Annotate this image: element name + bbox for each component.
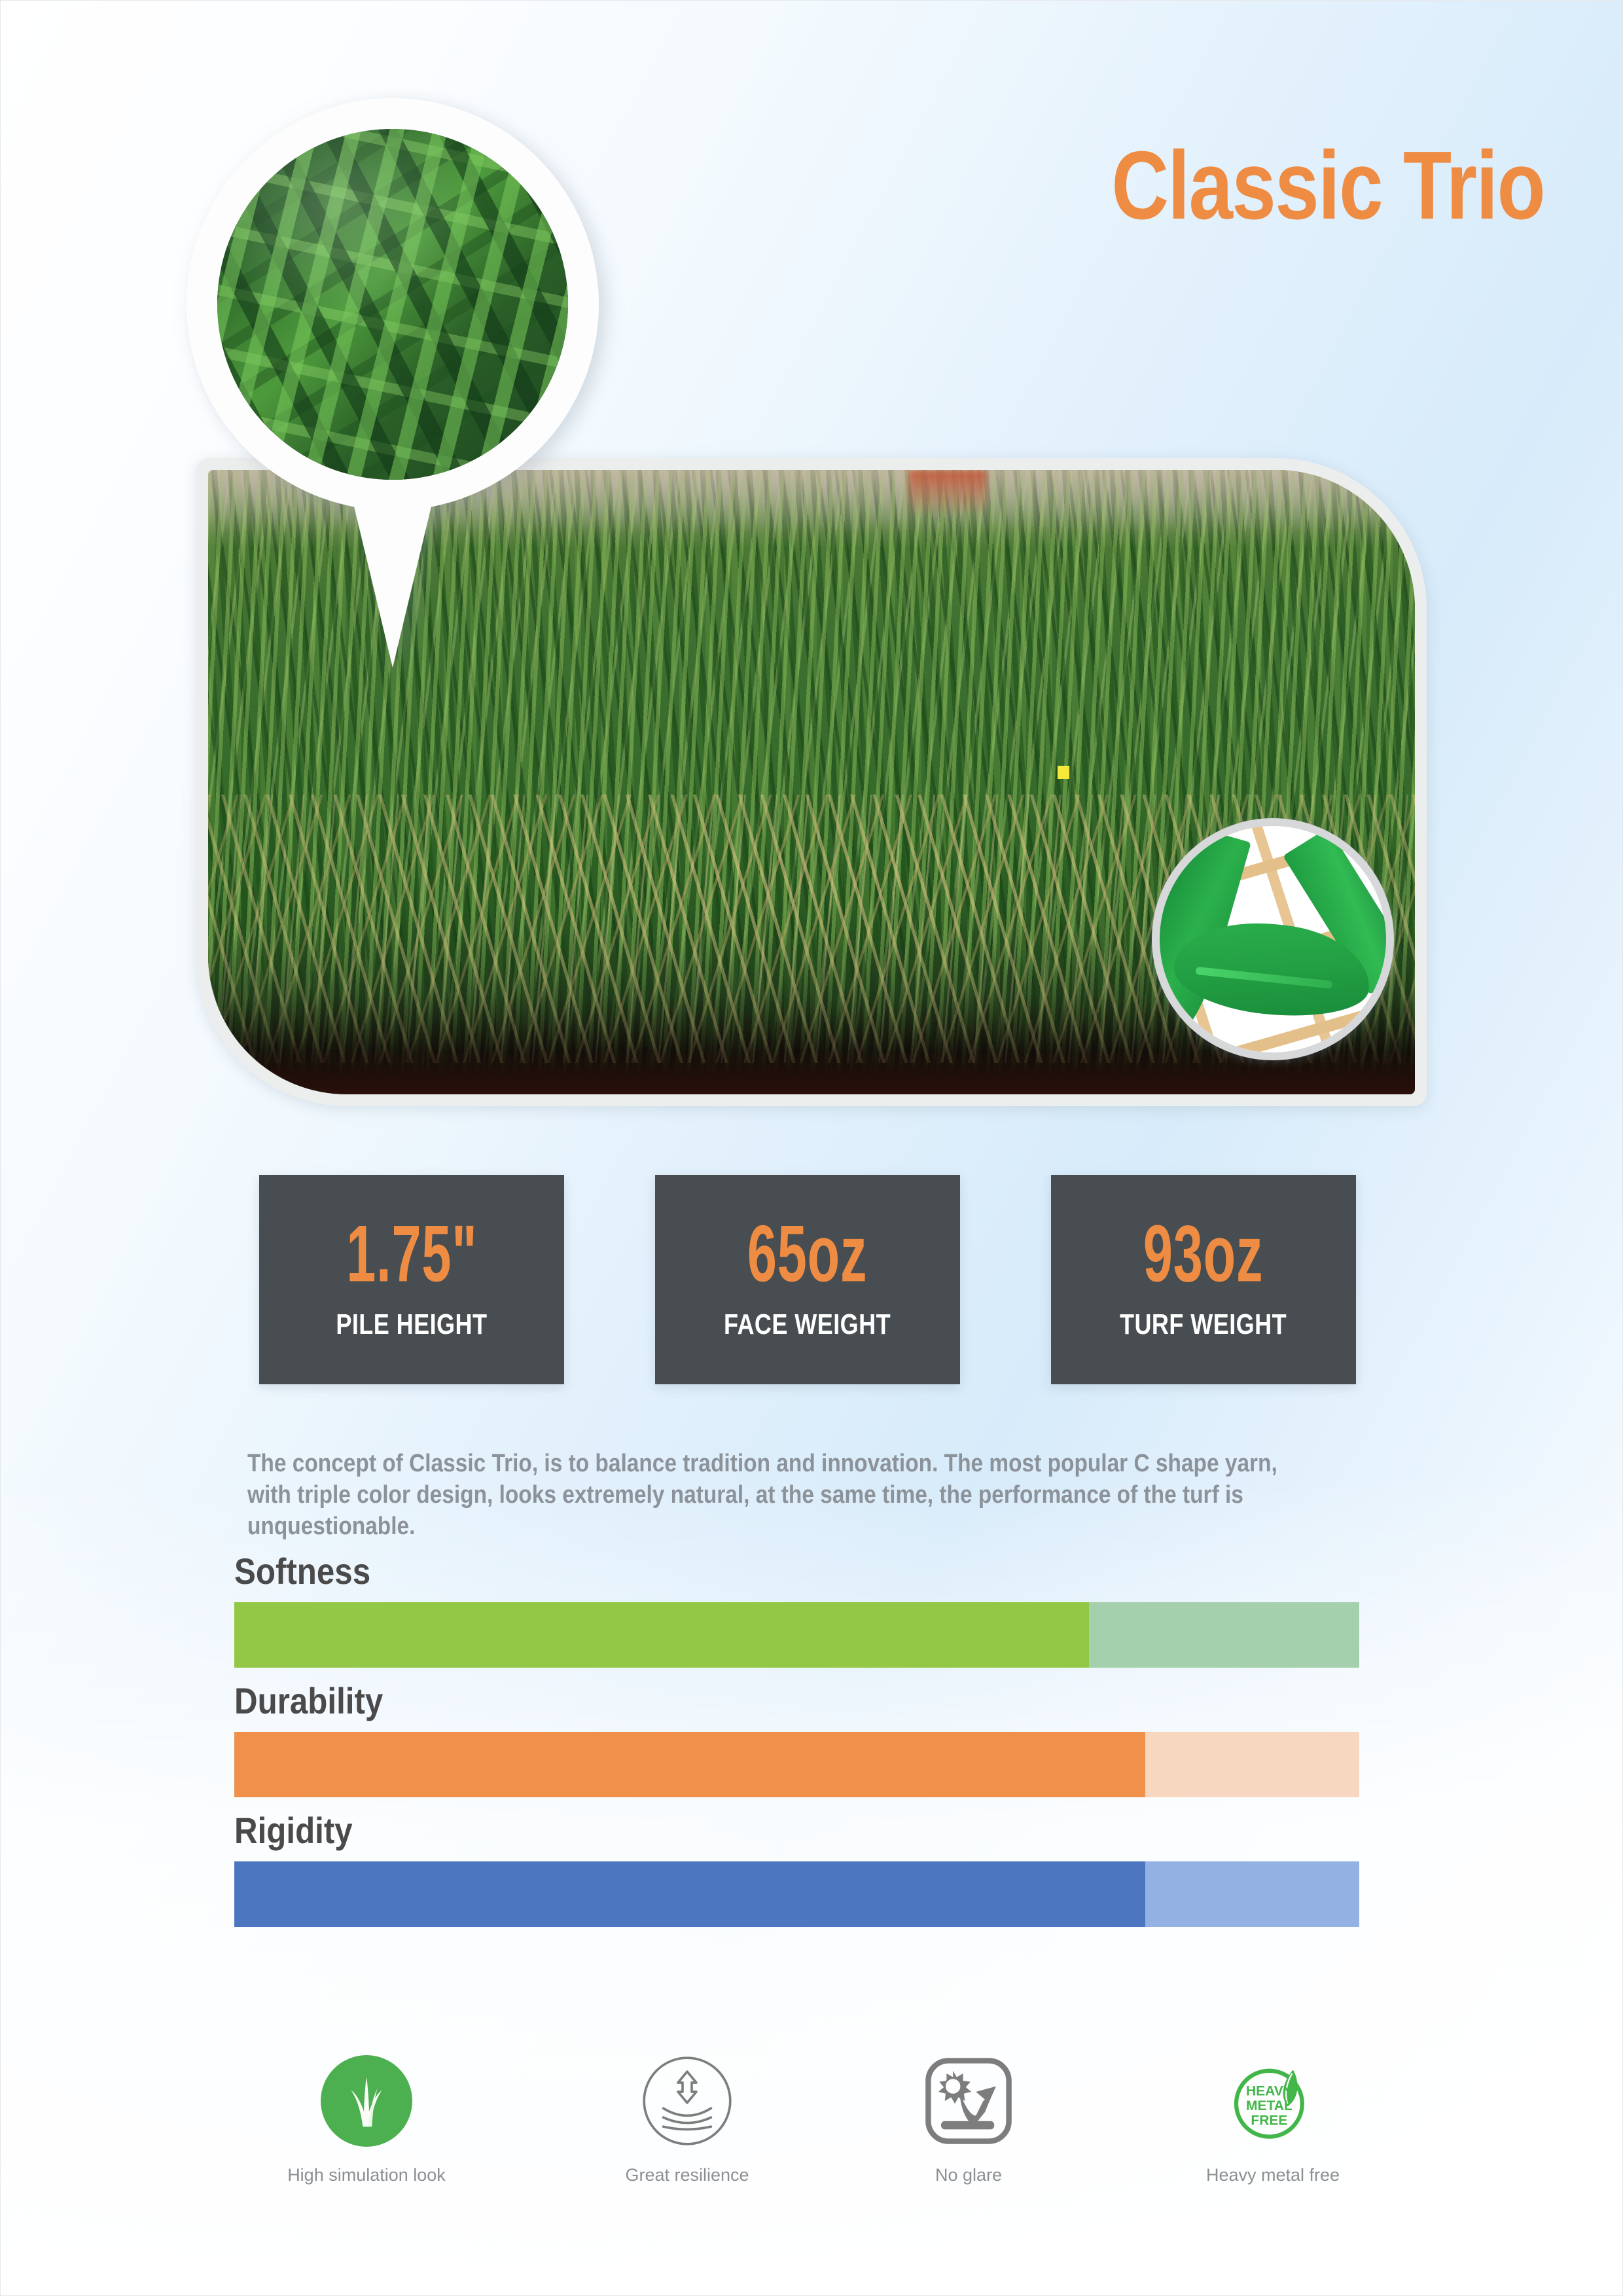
badge-line-3: FREE xyxy=(1251,2113,1287,2128)
rating-track-remainder xyxy=(1089,1602,1359,1668)
product-description: The concept of Classic Trio, is to balan… xyxy=(247,1448,1278,1542)
rating-track xyxy=(234,1732,1359,1797)
rating-fill xyxy=(234,1861,1145,1927)
rating-label: Durability xyxy=(234,1681,1224,1721)
spec-label: PILE HEIGHT xyxy=(336,1310,487,1339)
feature-icon-group: High simulation look Great resilience xyxy=(0,2055,1623,2238)
photo-background-blur xyxy=(908,470,987,516)
spec-value: 93oz xyxy=(1143,1214,1263,1295)
page-title: Classic Trio xyxy=(944,137,1544,234)
yarn-detail-badge xyxy=(1152,818,1394,1060)
rating-row-durability: Durability xyxy=(234,1681,1359,1797)
resilience-arrow-icon xyxy=(641,2055,733,2147)
badge-line-1: HEAVY xyxy=(1246,2084,1293,2099)
rating-fill xyxy=(234,1732,1145,1797)
spec-value: 65oz xyxy=(747,1214,867,1295)
spec-box-face-weight: 65oz FACE WEIGHT xyxy=(655,1175,960,1384)
badge-line-2: METAL xyxy=(1246,2098,1293,2113)
pin-closeup-texture xyxy=(217,129,568,480)
no-glare-sun-icon xyxy=(923,2055,1014,2147)
rating-track xyxy=(234,1861,1359,1927)
spec-box-group: 1.75" PILE HEIGHT 65oz FACE WEIGHT 93oz … xyxy=(0,1175,1623,1391)
rating-track xyxy=(234,1602,1359,1668)
badge-face xyxy=(1160,826,1386,1052)
feature-no-glare: No glare xyxy=(831,2055,1106,2184)
yellow-marker-dot xyxy=(1058,766,1069,779)
rating-row-rigidity: Rigidity xyxy=(234,1810,1359,1927)
spec-label: FACE WEIGHT xyxy=(724,1310,891,1339)
rating-label: Softness xyxy=(234,1551,1224,1592)
rating-row-softness: Softness xyxy=(234,1551,1359,1668)
feature-caption: No glare xyxy=(935,2166,1002,2184)
feature-caption: Great resilience xyxy=(625,2166,749,2184)
pin-closeup-photo xyxy=(217,129,568,480)
feature-caption: Heavy metal free xyxy=(1206,2166,1340,2184)
spec-value: 1.75" xyxy=(346,1214,477,1295)
feature-great-resilience: Great resilience xyxy=(550,2055,825,2184)
spec-label: TURF WEIGHT xyxy=(1120,1310,1287,1339)
magnifier-pin xyxy=(187,98,638,700)
rating-track-remainder xyxy=(1145,1861,1359,1927)
rating-fill xyxy=(234,1602,1089,1668)
feature-high-simulation-look: High simulation look xyxy=(229,2055,504,2184)
spec-box-pile-height: 1.75" PILE HEIGHT xyxy=(259,1175,564,1384)
grass-circle-icon xyxy=(321,2055,412,2147)
rating-track-remainder xyxy=(1145,1732,1359,1797)
feature-heavy-metal-free: HEAVY METAL FREE Heavy metal free xyxy=(1135,2055,1410,2184)
spec-box-turf-weight: 93oz TURF WEIGHT xyxy=(1051,1175,1356,1384)
rating-label: Rigidity xyxy=(234,1810,1224,1851)
heavy-metal-free-icon: HEAVY METAL FREE xyxy=(1227,2055,1319,2147)
feature-caption: High simulation look xyxy=(287,2166,446,2184)
